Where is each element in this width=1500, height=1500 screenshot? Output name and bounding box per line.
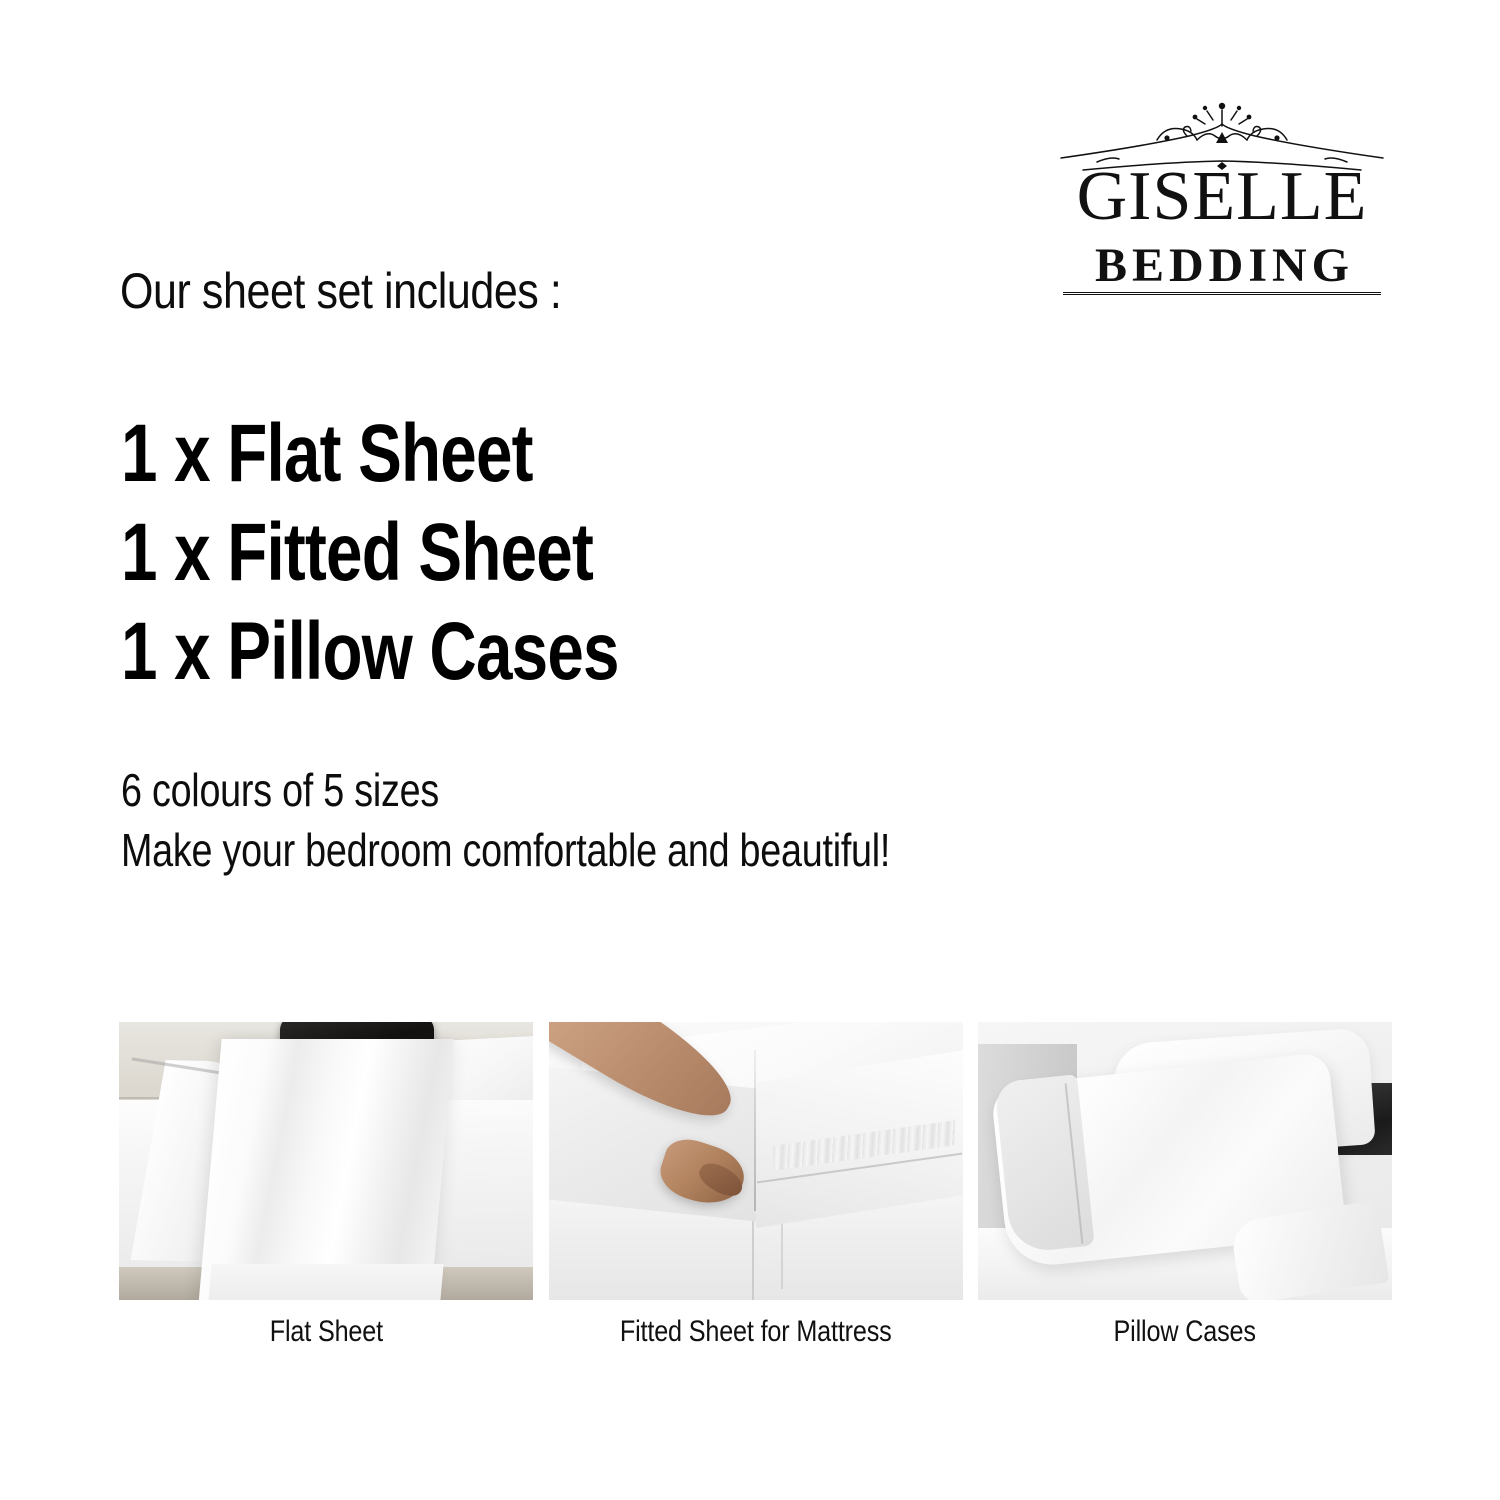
product-photo-strip: [119, 1022, 1383, 1300]
flat-sheet-photo: [119, 1022, 533, 1300]
pillow-cases-photo: [978, 1022, 1392, 1300]
caption-text: Flat Sheet: [269, 1312, 382, 1352]
logo-wordmark-bedding: BEDDING: [1057, 242, 1387, 290]
photo-caption-pillow-cases: Pillow Cases: [978, 1312, 1392, 1352]
list-item: 1 x Pillow Cases: [121, 602, 841, 701]
photo-caption-flat-sheet: Flat Sheet: [119, 1312, 533, 1352]
brand-logo: GISELLE BEDDING: [1057, 96, 1387, 301]
sheet-hanging-front: [208, 1264, 443, 1300]
photo-caption-fitted-sheet: Fitted Sheet for Mattress: [549, 1312, 963, 1352]
tagline-block: 6 colours of 5 sizes Make your bedroom c…: [121, 760, 1321, 880]
tagline-line-2: Make your bedroom comfortable and beauti…: [121, 820, 1105, 880]
double-rule-divider-icon: [1063, 292, 1381, 295]
page-title: Our sheet set includes :: [120, 262, 561, 320]
logo-wordmark-giselle: GISELLE: [1057, 162, 1387, 232]
fitted-sheet-photo: [549, 1022, 963, 1300]
caption-text: Pillow Cases: [1114, 1312, 1256, 1352]
caption-text: Fitted Sheet for Mattress: [620, 1312, 892, 1352]
list-item: 1 x Fitted Sheet: [121, 503, 841, 602]
includes-list: 1 x Flat Sheet 1 x Fitted Sheet 1 x Pill…: [121, 404, 1021, 701]
list-item: 1 x Flat Sheet: [121, 404, 841, 503]
mattress-corner-edge: [754, 1050, 756, 1211]
tagline-line-1: 6 colours of 5 sizes: [121, 760, 1105, 820]
draped-flat-sheet: [198, 1039, 453, 1300]
